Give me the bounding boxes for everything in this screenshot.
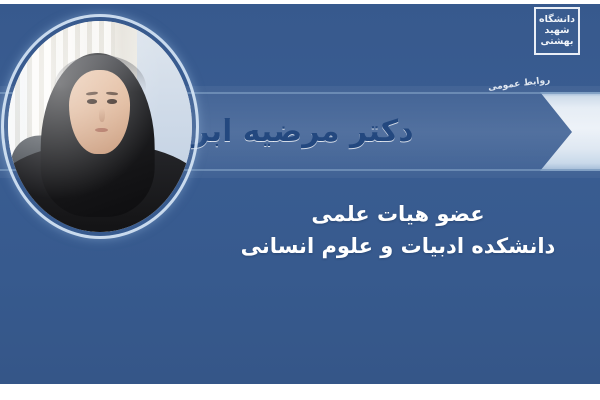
university-logo-mark: دانشگاه شهید بهشتی (534, 7, 580, 55)
logo-line-beheshti: بهشتی (541, 37, 574, 47)
profile-poster: دکتر مرضیه ابراهیمی عضو هیات علمی دانشکد… (0, 0, 600, 400)
photo-eye-right (107, 99, 117, 104)
portrait-photo (8, 21, 192, 232)
avatar-image-clip (8, 21, 192, 232)
frame-strip-bottom (0, 384, 600, 400)
frame-strip-top (0, 0, 600, 4)
affiliation-faculty: دانشکده ادبیات و علوم انسانی (196, 232, 600, 261)
avatar (4, 17, 196, 236)
photo-eye-left (87, 99, 97, 104)
university-logo: دانشگاه شهید بهشتی روابط عمومی (488, 5, 586, 83)
logo-line-daneshgah: دانشگاه (539, 15, 575, 25)
person-affiliation: عضو هیات علمی دانشکده ادبیات و علوم انسا… (196, 200, 600, 261)
affiliation-role: عضو هیات علمی (196, 200, 600, 229)
logo-line-shahid: شهید (545, 26, 570, 36)
photo-nose (99, 108, 105, 123)
